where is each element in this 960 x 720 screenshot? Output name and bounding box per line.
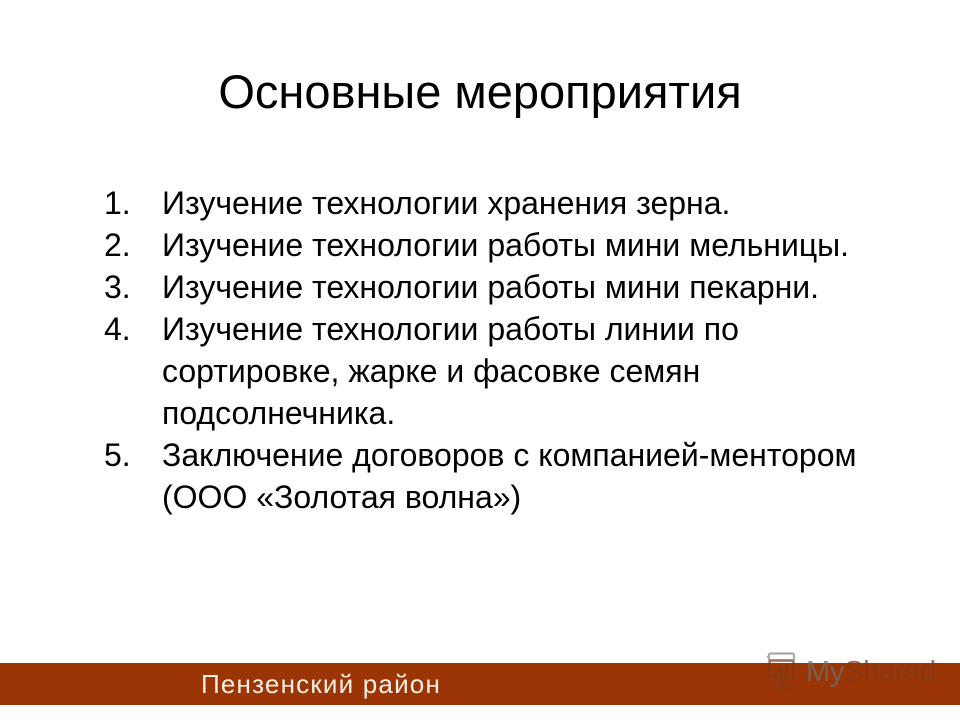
list-item: 4. Изучение технологии работы линии по с…: [104, 308, 894, 434]
list-item-marker: 4.: [104, 308, 162, 350]
myshared-watermark: MyShared: [762, 648, 952, 696]
watermark-text-shared: Shared: [844, 656, 936, 688]
watermark-text-my: My: [806, 656, 844, 688]
list-item: 2. Изучение технологии работы мини мельн…: [104, 224, 894, 266]
list-item-marker: 1.: [104, 182, 162, 224]
list-item-marker: 5.: [104, 434, 162, 476]
page-title: Основные мероприятия: [0, 64, 960, 120]
list-item-marker: 2.: [104, 224, 162, 266]
list-item: 1. Изучение технологии хранения зерна.: [104, 182, 894, 224]
list-item-text: Заключение договоров с компанией-менторо…: [162, 434, 894, 518]
slide-canvas: Основные мероприятия 1. Изучение техноло…: [0, 0, 960, 720]
list-item: 5. Заключение договоров с компанией-мент…: [104, 434, 894, 518]
list-item-marker: 3.: [104, 266, 162, 308]
presentation-board-icon: [762, 650, 802, 694]
myshared-watermark-text: MyShared: [806, 655, 936, 689]
list-item-text: Изучение технологии работы мини мельницы…: [162, 224, 894, 266]
list-item: 3. Изучение технологии работы мини пекар…: [104, 266, 894, 308]
main-content-list: 1. Изучение технологии хранения зерна. 2…: [104, 182, 894, 518]
list-item-text: Изучение технологии работы линии по сорт…: [162, 308, 894, 434]
list-item-text: Изучение технологии работы мини пекарни.: [162, 266, 894, 308]
list-item-text: Изучение технологии хранения зерна.: [162, 182, 894, 224]
